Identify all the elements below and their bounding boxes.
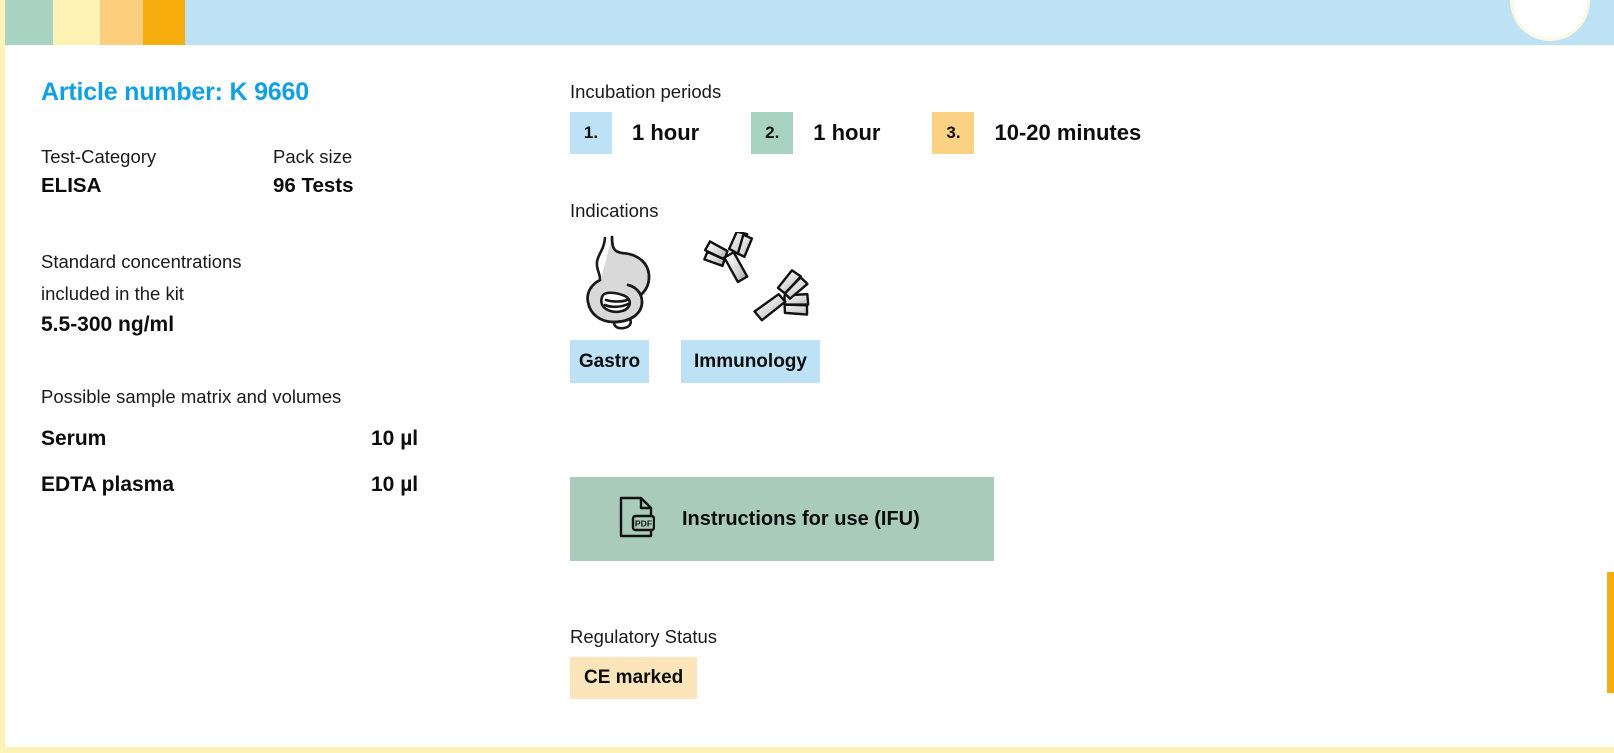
incubation-block: Incubation periods 1. 1 hour 2. 1 hour 3… xyxy=(570,81,1570,154)
instructions-for-use-button[interactable]: PDF Instructions for use (IFU) xyxy=(570,477,994,561)
indication-item-gastro[interactable]: Gastro xyxy=(570,232,658,383)
stomach-intestine-icon xyxy=(570,232,658,330)
sample-matrix-name: EDTA plasma xyxy=(41,473,371,497)
pack-size-label: Pack size xyxy=(273,146,541,168)
sample-matrix-block: Possible sample matrix and volumes Serum… xyxy=(41,386,541,497)
scrollbar-thumb[interactable] xyxy=(1607,572,1614,693)
vertical-scrollbar[interactable] xyxy=(1600,45,1614,747)
article-number-heading: Article number: K 9660 xyxy=(41,78,541,107)
incubation-step-number: 2. xyxy=(751,112,793,154)
assay-details-column: Incubation periods 1. 1 hour 2. 1 hour 3… xyxy=(570,81,1570,383)
sample-matrix-row: EDTA plasma 10 µl xyxy=(41,473,541,497)
standard-concentrations-block: Standard concentrations included in the … xyxy=(41,246,541,337)
regulatory-status-block: Regulatory Status CE marked xyxy=(570,626,717,699)
indications-list: Gastro xyxy=(570,232,1570,383)
incubation-step: 2. 1 hour xyxy=(751,112,932,154)
sample-matrix-title: Possible sample matrix and volumes xyxy=(41,386,541,408)
incubation-step-number: 1. xyxy=(570,112,612,154)
product-info-column: Article number: K 9660 Test-Category Pac… xyxy=(41,78,541,519)
antibody-icon xyxy=(681,232,829,330)
regulatory-status-title: Regulatory Status xyxy=(570,626,717,648)
sample-matrix-name: Serum xyxy=(41,427,371,451)
incubation-title: Incubation periods xyxy=(570,81,1570,103)
incubation-steps: 1. 1 hour 2. 1 hour 3. 10-20 minutes xyxy=(570,112,1570,154)
banner-swatch-lightorange xyxy=(100,0,143,45)
standard-concentrations-label-line1: Standard concentrations xyxy=(41,246,541,278)
sample-matrix-volume: 10 µl xyxy=(371,427,418,451)
banner-swatch-yellow xyxy=(53,0,100,45)
instructions-for-use-label: Instructions for use (IFU) xyxy=(682,508,920,531)
incubation-step-duration: 1 hour xyxy=(813,120,880,146)
banner-swatch-orange xyxy=(143,0,185,45)
incubation-step-duration: 10-20 minutes xyxy=(994,120,1141,146)
indications-title: Indications xyxy=(570,200,1570,222)
pdf-file-icon: PDF xyxy=(619,496,655,543)
incubation-step-duration: 1 hour xyxy=(632,120,699,146)
status-badge: CE marked xyxy=(570,657,697,699)
standard-concentrations-label-line2: included in the kit xyxy=(41,278,541,310)
sample-matrix-row: Serum 10 µl xyxy=(41,427,541,451)
category-pack-grid: Test-Category Pack size ELISA 96 Tests xyxy=(41,146,541,198)
incubation-step: 3. 10-20 minutes xyxy=(932,112,1193,154)
banner-swatch-blue xyxy=(185,0,1614,45)
test-category-label: Test-Category xyxy=(41,146,273,168)
indications-block: Indications xyxy=(570,200,1570,383)
product-detail-page: Article number: K 9660 Test-Category Pac… xyxy=(0,0,1614,753)
sample-matrix-volume: 10 µl xyxy=(371,473,418,497)
indication-chip-label: Gastro xyxy=(570,340,649,383)
incubation-step-number: 3. xyxy=(932,112,974,154)
indication-chip-label: Immunology xyxy=(681,340,820,383)
standard-concentrations-value: 5.5-300 ng/ml xyxy=(41,313,541,337)
indication-item-immunology[interactable]: Immunology xyxy=(681,232,829,383)
pack-size-value: 96 Tests xyxy=(273,174,541,198)
svg-text:PDF: PDF xyxy=(635,518,652,528)
banner-swatch-green xyxy=(5,0,53,45)
color-banner xyxy=(5,0,1614,45)
incubation-step: 1. 1 hour xyxy=(570,112,751,154)
test-category-value: ELISA xyxy=(41,174,273,198)
